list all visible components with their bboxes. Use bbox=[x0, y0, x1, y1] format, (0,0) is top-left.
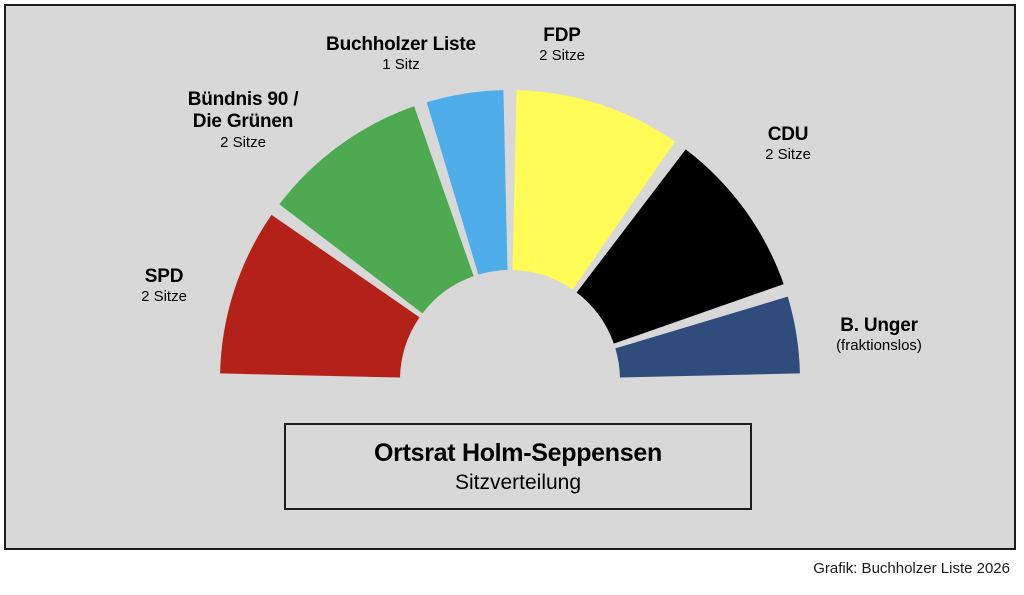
slice-label-spd: SPD 2 Sitze bbox=[94, 266, 234, 306]
slice-label-unger-name: B. Unger bbox=[789, 315, 969, 337]
slice-label-spd-seats: 2 Sitze bbox=[94, 288, 234, 306]
slice-label-fdp-seats: 2 Sitze bbox=[492, 47, 632, 65]
slice-label-cdu: CDU 2 Sitze bbox=[718, 124, 858, 164]
credit-line: Grafik: Buchholzer Liste 2026 bbox=[813, 560, 1010, 577]
slice-label-spd-name: SPD bbox=[94, 266, 234, 288]
chart-canvas: SPD 2 Sitze Bündnis 90 / Die Grünen 2 Si… bbox=[0, 0, 1024, 595]
slice-label-buchholzer-name: Buchholzer Liste bbox=[291, 34, 511, 56]
page-subtitle: Sitzverteilung bbox=[455, 471, 581, 495]
page-title: Ortsrat Holm-Seppensen bbox=[374, 439, 662, 468]
slice-label-gruene-line2: Die Grünen bbox=[143, 111, 343, 133]
slice-label-gruene-seats: 2 Sitze bbox=[143, 134, 343, 152]
slice-label-buchholzer-liste: Buchholzer Liste 1 Sitz bbox=[291, 34, 511, 74]
slice-label-fdp: FDP 2 Sitze bbox=[492, 25, 632, 65]
slice-label-unger-seats: (fraktionslos) bbox=[789, 337, 969, 355]
slice-label-gruene-line1: Bündnis 90 / bbox=[143, 89, 343, 111]
chart-title-box: Ortsrat Holm-Seppensen Sitzverteilung bbox=[284, 423, 752, 510]
slice-label-b-unger: B. Unger (fraktionslos) bbox=[789, 315, 969, 355]
slice-label-buchholzer-seats: 1 Sitz bbox=[291, 56, 511, 74]
slice-label-fdp-name: FDP bbox=[492, 25, 632, 47]
slice-label-cdu-name: CDU bbox=[718, 124, 858, 146]
slice-label-cdu-seats: 2 Sitze bbox=[718, 146, 858, 164]
slice-label-gruene: Bündnis 90 / Die Grünen 2 Sitze bbox=[143, 89, 343, 152]
